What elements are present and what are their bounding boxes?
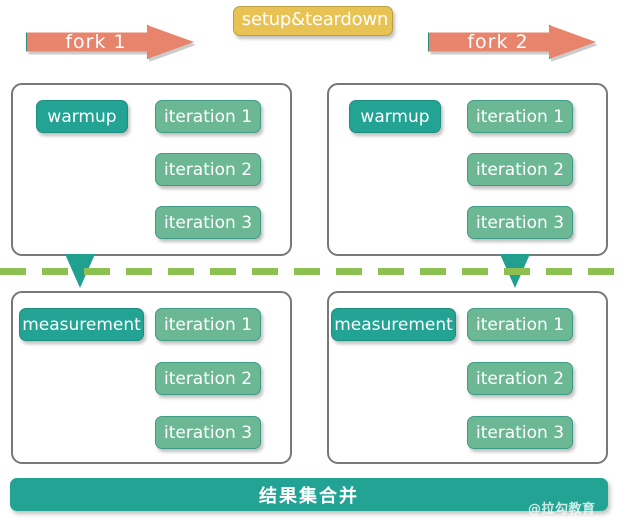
- fork-1-warmup-phase-label: warmup: [47, 107, 116, 127]
- fork-2-measurement-phase-label: measurement: [334, 315, 453, 335]
- fork-1-measurement-iteration-1: iteration 1: [155, 308, 261, 341]
- fork-1-warmup-iteration-3: iteration 3: [155, 206, 261, 239]
- fork-2-warmup-iteration-1: iteration 1: [467, 100, 573, 133]
- setup-teardown-label: setup&teardown: [234, 9, 396, 30]
- fork-1-arrow-label: fork 1: [65, 31, 126, 53]
- fork-2-measurement-iteration-2-label: iteration 2: [476, 369, 564, 389]
- fork-2-warmup-phase-chip: warmup: [349, 100, 441, 133]
- fork-2-measurement-iteration-2: iteration 2: [467, 362, 573, 395]
- fork-2-warmup-iteration-2: iteration 2: [467, 153, 573, 186]
- diagram-canvas: fork 1 setup&teardown fork 2 warmup iter…: [0, 0, 619, 532]
- fork-2-arrow-label: fork 2: [467, 31, 528, 53]
- fork-2-warmup-phase-label: warmup: [360, 107, 429, 127]
- fork-1-measurement-phase-label: measurement: [22, 315, 141, 335]
- fork-1-warmup-phase-chip: warmup: [36, 100, 128, 133]
- fork-1-warmup-iteration-2: iteration 2: [155, 153, 261, 186]
- fork-2-warmup-iteration-1-label: iteration 1: [476, 107, 564, 127]
- result-merge-label: 结果集合并: [259, 482, 359, 508]
- fork-1-measurement-iteration-2: iteration 2: [155, 362, 261, 395]
- fork-2-measurement-iteration-3: iteration 3: [467, 416, 573, 449]
- fork-1-warmup-iteration-1: iteration 1: [155, 100, 261, 133]
- fork-2-measurement-phase-chip: measurement: [331, 308, 456, 341]
- fork-2-measurement-iteration-1: iteration 1: [467, 308, 573, 341]
- fork-1-measurement-iteration-3: iteration 3: [155, 416, 261, 449]
- fork-1-warmup-iteration-2-label: iteration 2: [164, 160, 252, 180]
- watermark-label: @拉勾教育: [528, 498, 596, 517]
- result-merge-bar: 结果集合并: [10, 478, 608, 511]
- fork-2-measurement-iteration-1-label: iteration 1: [476, 315, 564, 335]
- phase-divider-dashed-line: [0, 268, 619, 275]
- fork-1-measurement-iteration-3-label: iteration 3: [164, 423, 252, 443]
- fork-2-measurement-iteration-3-label: iteration 3: [476, 423, 564, 443]
- fork-1-warmup-iteration-3-label: iteration 3: [164, 213, 252, 233]
- fork-2-warmup-iteration-2-label: iteration 2: [476, 160, 564, 180]
- fork-1-measurement-phase-chip: measurement: [19, 308, 144, 341]
- fork-1-measurement-iteration-2-label: iteration 2: [164, 369, 252, 389]
- fork-2-warmup-iteration-3-label: iteration 3: [476, 213, 564, 233]
- fork-2-warmup-iteration-3: iteration 3: [467, 206, 573, 239]
- fork-1-warmup-iteration-1-label: iteration 1: [164, 107, 252, 127]
- fork-1-measurement-iteration-1-label: iteration 1: [164, 315, 252, 335]
